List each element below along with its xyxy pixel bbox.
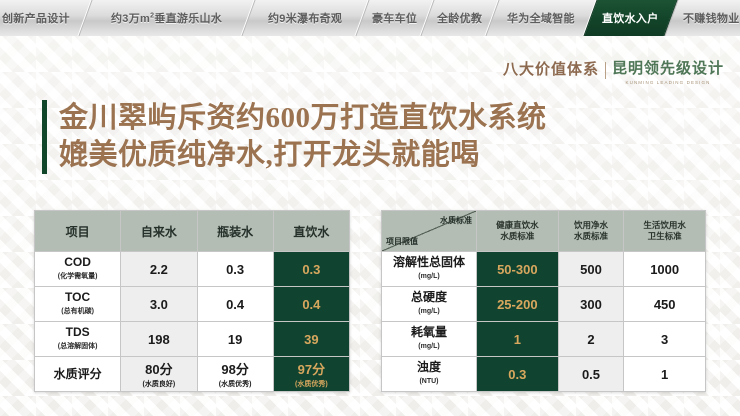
- standard-row-label-main: 总硬度: [411, 290, 447, 304]
- brand-right-group: 昆明领先级设计 KUNMING LEADING DESIGN: [612, 60, 724, 85]
- cell-r1-c0: 3.0: [121, 287, 197, 322]
- nav-tab-label: 约9米瀑布奇观: [268, 10, 342, 26]
- standard-cell-r2-c2: 3: [624, 322, 706, 357]
- cell-value: 198: [148, 332, 170, 347]
- nav-tab-label: 创新产品设计: [2, 10, 70, 26]
- standard-cell-r3-c0: 0.3: [477, 357, 559, 392]
- cell-value-sub: (水质优秀): [274, 379, 349, 389]
- row-label: COD(化学需氧量): [35, 252, 121, 287]
- standard-header-0-line1: 健康直饮水: [477, 220, 558, 231]
- standard-row-label: 溶解性总固体(mg/L): [382, 252, 477, 287]
- brand-right-text-en: KUNMING LEADING DESIGN: [626, 80, 711, 85]
- table-body: COD(化学需氧量)2.20.30.3TOC(总有机碳)3.00.40.4TDS…: [35, 252, 350, 392]
- row-label-sub: (总溶解固体): [35, 340, 120, 353]
- table-row: 溶解性总固体(mg/L)50-3005001000: [382, 252, 706, 287]
- cell-value: 80分: [145, 362, 172, 377]
- standard-header-0-line2: 水质标准: [477, 231, 558, 242]
- cell-r1-c1: 0.4: [197, 287, 273, 322]
- nav-tab-8[interactable]: 不赚钱物业: [664, 0, 740, 36]
- cell-value: 39: [304, 332, 318, 347]
- standard-cell-r1-c0: 25-200: [477, 287, 559, 322]
- standard-row-label-main: 耗氧量: [411, 325, 447, 339]
- cell-value-sub: (水质良好): [121, 379, 196, 389]
- cell-r2-c0: 198: [121, 322, 197, 357]
- row-label-main: TOC: [65, 290, 90, 304]
- comparison-header-0: 项目: [35, 211, 121, 252]
- standard-cell-r0-c2: 1000: [624, 252, 706, 287]
- standard-header-2-line1: 生活饮用水: [624, 220, 705, 231]
- nav-tab-label: 全龄优教: [437, 10, 482, 26]
- table-row: 浊度(NTU)0.30.51: [382, 357, 706, 392]
- corner-top-label: 水质标准: [440, 215, 472, 226]
- standard-row-label: 耗氧量(mg/L): [382, 322, 477, 357]
- comparison-header-1: 自来水: [121, 211, 197, 252]
- nav-tab-6[interactable]: 华为全域智能: [485, 0, 596, 36]
- row-label-main: TDS: [66, 325, 90, 339]
- row-label: 水质评分: [35, 357, 121, 392]
- nav-tab-2[interactable]: 约3万m2垂直游乐山水: [78, 0, 254, 36]
- cell-value: 0.3: [226, 262, 244, 277]
- standard-row-label-main: 溶解性总固体: [393, 255, 465, 269]
- row-label-sub: (化学需氧量): [35, 270, 120, 283]
- standard-cell-r0-c1: 500: [558, 252, 624, 287]
- water-comparison-table-wrapper: 项目自来水瓶装水直饮水 COD(化学需氧量)2.20.30.3TOC(总有机碳)…: [34, 210, 350, 392]
- standard-header-1-line1: 饮用净水: [559, 220, 624, 231]
- standard-header-0: 健康直饮水 水质标准: [477, 211, 559, 252]
- cell-value: 0.3: [302, 262, 320, 277]
- standard-cell-r1-c2: 450: [624, 287, 706, 322]
- cell-value: 3.0: [150, 297, 168, 312]
- brand-divider: [605, 62, 606, 79]
- table-row: 总硬度(mg/L)25-200300450: [382, 287, 706, 322]
- nav-tab-label: 华为全域智能: [507, 10, 575, 26]
- table-row: COD(化学需氧量)2.20.30.3: [35, 252, 350, 287]
- headline-block: 金川翠屿斥资约600万打造直饮水系统 媲美优质纯净水,打开龙头就能喝: [42, 100, 547, 174]
- water-comparison-table: 项目自来水瓶装水直饮水 COD(化学需氧量)2.20.30.3TOC(总有机碳)…: [34, 210, 350, 392]
- table-row: 耗氧量(mg/L)123: [382, 322, 706, 357]
- corner-header-cell: 水质标准 项目限值: [382, 211, 477, 252]
- headline-line-2: 媲美优质纯净水,打开龙头就能喝: [59, 137, 547, 174]
- standard-cell-r3-c2: 1: [624, 357, 706, 392]
- headline-text-group: 金川翠屿斥资约600万打造直饮水系统 媲美优质纯净水,打开龙头就能喝: [59, 100, 547, 174]
- standard-header-1-line2: 水质标准: [559, 231, 624, 242]
- standard-row-label-unit: (mg/L): [382, 270, 476, 283]
- cell-r3-c0: 80分(水质良好): [121, 357, 197, 392]
- brand-lockup: 八大价值体系 昆明领先级设计 KUNMING LEADING DESIGN: [503, 60, 724, 85]
- standard-table-body: 溶解性总固体(mg/L)50-3005001000总硬度(mg/L)25-200…: [382, 252, 706, 392]
- standard-row-label: 总硬度(mg/L): [382, 287, 477, 322]
- nav-tab-label: 不赚钱物业: [683, 10, 740, 26]
- table-row: TOC(总有机碳)3.00.40.4: [35, 287, 350, 322]
- cell-value: 19: [228, 332, 242, 347]
- nav-tab-7[interactable]: 直饮水入户: [583, 0, 677, 36]
- cell-r2-c2: 39: [273, 322, 349, 357]
- cell-value: 0.4: [302, 297, 320, 312]
- standard-cell-r2-c1: 2: [558, 322, 624, 357]
- brand-left-text: 八大价值体系: [503, 60, 599, 80]
- corner-bottom-label: 项目限值: [386, 236, 418, 247]
- comparison-header-2: 瓶装水: [197, 211, 273, 252]
- cell-value-sub: (水质优秀): [198, 379, 273, 389]
- cell-value: 2.2: [150, 262, 168, 277]
- cell-value: 0.4: [226, 297, 244, 312]
- standard-cell-r3-c1: 0.5: [558, 357, 624, 392]
- standard-header-2: 生活饮用水 卫生标准: [624, 211, 706, 252]
- standard-cell-r2-c0: 1: [477, 322, 559, 357]
- nav-tab-list: 创新产品设计约3万m2垂直游乐山水约9米瀑布奇观豪车车位全龄优教华为全域智能直饮…: [0, 0, 740, 36]
- nav-tab-label: 豪车车位: [372, 10, 417, 26]
- row-label-main: 水质评分: [54, 367, 102, 381]
- water-standard-table: 水质标准 项目限值 健康直饮水 水质标准 饮用净水 水质标准 生活饮用水 卫生标…: [381, 210, 706, 392]
- row-label-main: COD: [64, 255, 91, 269]
- standard-row-label-unit: (NTU): [382, 375, 476, 388]
- standard-row-label: 浊度(NTU): [382, 357, 477, 392]
- cell-r2-c1: 19: [197, 322, 273, 357]
- standard-header-2-line2: 卫生标准: [624, 231, 705, 242]
- cell-r3-c1: 98分(水质优秀): [197, 357, 273, 392]
- row-label: TOC(总有机碳): [35, 287, 121, 322]
- row-label-sub: (总有机碳): [35, 305, 120, 318]
- standard-row-label-unit: (mg/L): [382, 305, 476, 318]
- top-navigation-bar: 创新产品设计约3万m2垂直游乐山水约9米瀑布奇观豪车车位全龄优教华为全域智能直饮…: [0, 0, 740, 36]
- cell-r1-c2: 0.4: [273, 287, 349, 322]
- cell-value: 97分: [298, 362, 325, 377]
- nav-tab-label: 直饮水入户: [602, 10, 659, 26]
- standard-cell-r0-c0: 50-300: [477, 252, 559, 287]
- cell-r0-c0: 2.2: [121, 252, 197, 287]
- corner-diagonal: 水质标准 项目限值: [382, 211, 476, 251]
- headline-line-1: 金川翠屿斥资约600万打造直饮水系统: [59, 100, 547, 137]
- standard-cell-r1-c1: 300: [558, 287, 624, 322]
- row-label: TDS(总溶解固体): [35, 322, 121, 357]
- headline-accent-bar: [42, 100, 47, 174]
- cell-value: 98分: [221, 362, 248, 377]
- nav-tab-3[interactable]: 约9米瀑布奇观: [241, 0, 368, 36]
- nav-tab-1[interactable]: 创新产品设计: [0, 0, 92, 36]
- comparison-header-3: 直饮水: [273, 211, 349, 252]
- table-row: TDS(总溶解固体)1981939: [35, 322, 350, 357]
- standard-header-1: 饮用净水 水质标准: [558, 211, 624, 252]
- standard-row-label-unit: (mg/L): [382, 340, 476, 353]
- water-standard-table-wrapper: 水质标准 项目限值 健康直饮水 水质标准 饮用净水 水质标准 生活饮用水 卫生标…: [381, 210, 706, 392]
- brand-right-text-cn: 昆明领先级设计: [612, 60, 724, 79]
- nav-tab-label: 约3万m2垂直游乐山水: [111, 10, 222, 26]
- cell-r3-c2: 97分(水质优秀): [273, 357, 349, 392]
- table-header-row: 项目自来水瓶装水直饮水: [35, 211, 350, 252]
- cell-r0-c1: 0.3: [197, 252, 273, 287]
- standard-row-label-main: 浊度: [417, 360, 441, 374]
- table-row: 水质评分80分(水质良好)98分(水质优秀)97分(水质优秀): [35, 357, 350, 392]
- cell-r0-c2: 0.3: [273, 252, 349, 287]
- standard-header-row: 水质标准 项目限值 健康直饮水 水质标准 饮用净水 水质标准 生活饮用水 卫生标…: [382, 211, 706, 252]
